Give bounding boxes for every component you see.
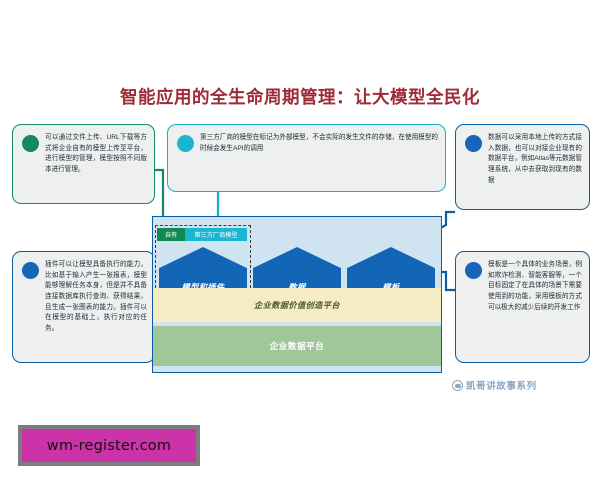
watermark-banner: wm-register.com	[18, 425, 200, 466]
bullet-dot-icon	[177, 135, 194, 152]
card-plugin[interactable]: 插件可以让模型具备执行的能力，比如基于输入产生一张报表，模型能够理解任务本身，但…	[12, 251, 155, 363]
band-value-creation-platform: 企业数据价值创造平台	[153, 288, 441, 322]
band-enterprise-data-platform-label: 企业数据平台	[270, 340, 325, 352]
card-template[interactable]: 模板是一个具体的业务场景，例如欺诈检测、智能客服等，一个目标固定了在具体的场景下…	[455, 251, 590, 363]
tag-third-party-model[interactable]: 第三方厂商模型	[185, 228, 247, 241]
band-value-creation-platform-label: 企业数据价值创造平台	[254, 299, 340, 311]
wechat-icon	[452, 380, 463, 391]
card-model-upload-text: 可以通过文件上传、URL下载等方式将企业自有的模型上传至平台，进行模型的管理，模…	[45, 133, 147, 176]
architecture-diagram: 自有 第三方厂商模型 模型和插件 数据 模板 企业数据价值创造平台 企业数据平台	[152, 216, 442, 373]
card-model-upload[interactable]: 可以通过文件上传、URL下载等方式将企业自有的模型上传至平台，进行模型的管理，模…	[12, 124, 155, 204]
card-third-party-model[interactable]: 第三方厂商的模型在标记为外部模型，不会实际的发生文件的存储，在使用模型的时候会发…	[167, 124, 446, 192]
bullet-dot-icon	[465, 262, 482, 279]
brand-watermark-text: 凯哥讲故事系列	[466, 378, 537, 392]
tag-own-model[interactable]: 自有	[157, 228, 185, 241]
card-data-ingestion-text: 数据可以采用本地上传的方式接入数据，也可以对接企业现有的数据平台，例如Atlas…	[488, 133, 582, 186]
band-enterprise-data-platform: 企业数据平台	[153, 326, 441, 366]
brand-watermark: 凯哥讲故事系列	[452, 378, 537, 392]
model-source-tags: 自有 第三方厂商模型	[157, 228, 247, 241]
card-template-text: 模板是一个具体的业务场景，例如欺诈检测、智能客服等，一个目标固定了在具体的场景下…	[488, 260, 582, 313]
card-data-ingestion[interactable]: 数据可以采用本地上传的方式接入数据，也可以对接企业现有的数据平台，例如Atlas…	[455, 124, 590, 210]
bullet-dot-icon	[22, 262, 39, 279]
card-plugin-text: 插件可以让模型具备执行的能力，比如基于输入产生一张报表，模型能够理解任务本身，但…	[45, 260, 147, 335]
bullet-dot-icon	[465, 135, 482, 152]
bullet-dot-icon	[22, 135, 39, 152]
card-third-party-model-text: 第三方厂商的模型在标记为外部模型，不会实际的发生文件的存储，在使用模型的时候会发…	[200, 133, 438, 154]
slide-canvas: 智能应用的全生命周期管理：让大模型全民化 可以通过文件上传、URL下载等方式将企…	[0, 0, 600, 480]
watermark-banner-text: wm-register.com	[47, 438, 171, 454]
